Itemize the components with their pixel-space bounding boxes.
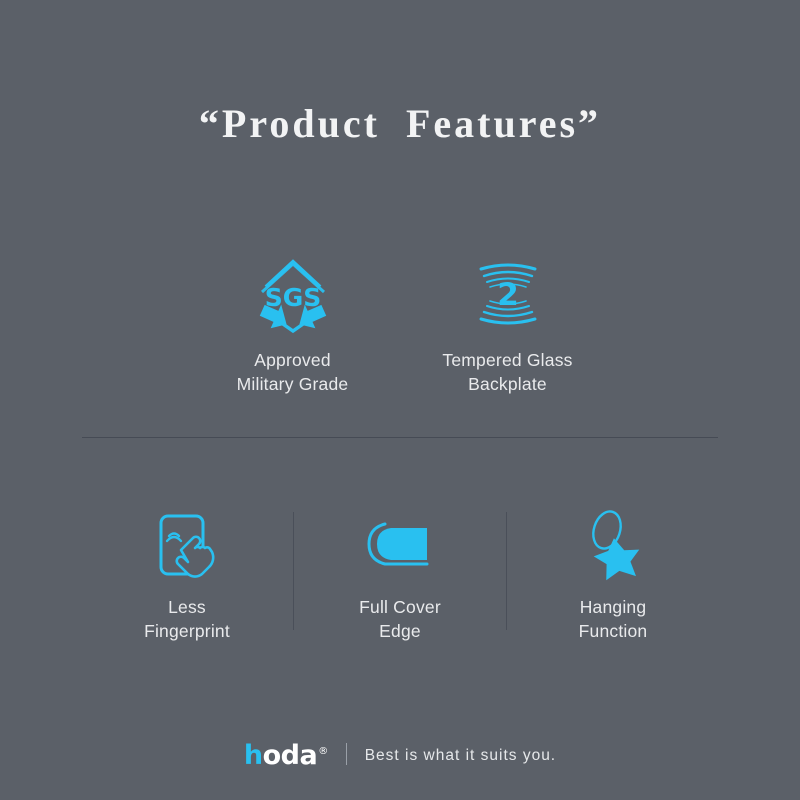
feature-hanging-function: Hanging Function bbox=[507, 505, 720, 643]
curved-edge-glass-icon bbox=[361, 505, 439, 585]
feature-approved-military-grade: SGS Approved Military Grade bbox=[185, 250, 400, 396]
page-title: “Product Features” bbox=[0, 100, 800, 148]
top-feature-row: SGS Approved Military Grade bbox=[0, 250, 800, 396]
hoda-logo-rest: oda bbox=[263, 742, 318, 769]
hoda-logo-h: h bbox=[244, 742, 263, 769]
footer-separator bbox=[346, 743, 347, 765]
feature-label: Tempered Glass Backplate bbox=[442, 348, 572, 396]
hoda-logo: hoda® bbox=[244, 742, 328, 769]
feature-label: Less Fingerprint bbox=[144, 595, 230, 643]
feature-tempered-glass-backplate: 2 Tempered Glass Backplate bbox=[400, 250, 615, 396]
svg-text:2: 2 bbox=[497, 277, 519, 313]
footer-tagline: Best is what it suits you. bbox=[365, 747, 556, 765]
bottom-feature-row: Less Fingerprint Full Cover Edge bbox=[0, 505, 800, 643]
section-divider bbox=[82, 437, 718, 438]
tempered-glass-layers-2-icon: 2 bbox=[471, 250, 545, 338]
sgs-certification-icon: SGS bbox=[256, 250, 330, 338]
feature-label: Full Cover Edge bbox=[359, 595, 441, 643]
registered-trademark-icon: ® bbox=[318, 747, 328, 757]
feature-less-fingerprint: Less Fingerprint bbox=[81, 505, 294, 643]
feature-label: Approved Military Grade bbox=[237, 348, 349, 396]
feature-label: Hanging Function bbox=[579, 595, 648, 643]
phone-touch-hand-icon bbox=[151, 505, 223, 585]
page-title-container: “Product Features” bbox=[0, 100, 800, 148]
feature-full-cover-edge: Full Cover Edge bbox=[294, 505, 507, 643]
product-features-graphic: “Product Features” SGS Approved Military… bbox=[0, 0, 800, 800]
hanging-star-tag-icon bbox=[580, 505, 646, 585]
svg-text:SGS: SGS bbox=[264, 283, 321, 312]
footer-branding: hoda® Best is what it suits you. bbox=[0, 742, 800, 769]
